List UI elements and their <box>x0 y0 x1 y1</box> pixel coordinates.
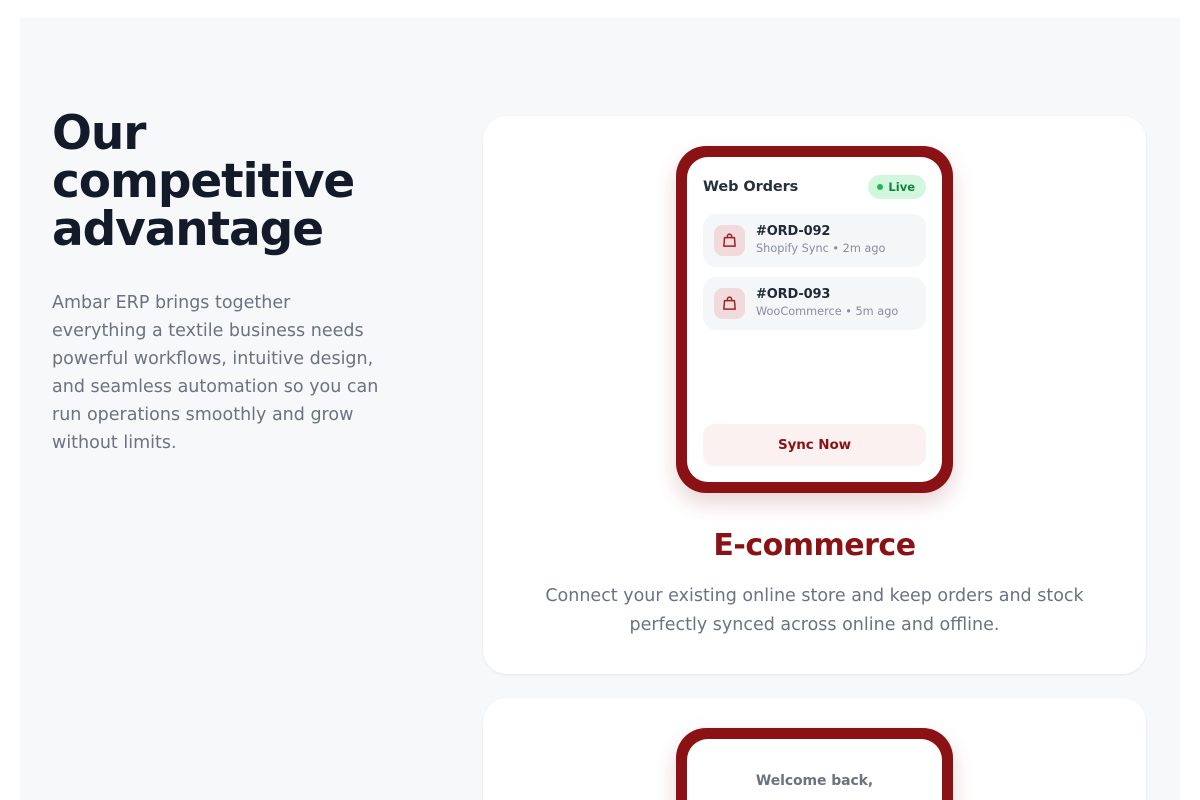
phone-mockup-screen: Welcome back, <box>687 739 942 800</box>
feature-card-ecommerce: Web Orders Live <box>483 116 1146 674</box>
welcome-greeting: Welcome back, <box>703 757 926 789</box>
mockup-title: Web Orders <box>703 179 798 195</box>
feature-card-list: Web Orders Live <box>483 116 1146 800</box>
live-dot-icon <box>877 184 883 190</box>
sync-now-button[interactable]: Sync Now <box>703 424 926 466</box>
page-title: Our competitive advantage <box>52 110 382 254</box>
mockup-header: Web Orders Live <box>703 175 926 199</box>
status-badge-label: Live <box>888 180 915 194</box>
order-meta: Shopify Sync • 2m ago <box>756 241 885 257</box>
shopping-bag-icon <box>714 288 745 319</box>
order-id: #ORD-093 <box>756 287 898 303</box>
page-section: Our competitive advantage Ambar ERP brin… <box>20 18 1180 800</box>
phone-mockup-frame: Web Orders Live <box>676 146 953 493</box>
intro-paragraph: Ambar ERP brings together everything a t… <box>52 289 390 457</box>
order-text-block: #ORD-093 WooCommerce • 5m ago <box>756 287 898 320</box>
phone-mockup-screen: Web Orders Live <box>687 157 942 482</box>
order-text-block: #ORD-092 Shopify Sync • 2m ago <box>756 224 885 257</box>
shopping-bag-icon <box>714 225 745 256</box>
feature-title: E-commerce <box>511 528 1118 563</box>
intro-column: Our competitive advantage Ambar ERP brin… <box>52 110 452 457</box>
phone-mockup-frame: Welcome back, <box>676 728 953 800</box>
order-meta: WooCommerce • 5m ago <box>756 304 898 320</box>
order-list-item[interactable]: #ORD-092 Shopify Sync • 2m ago <box>703 214 926 267</box>
feature-card-dashboard: Welcome back, <box>483 698 1146 800</box>
order-list-item[interactable]: #ORD-093 WooCommerce • 5m ago <box>703 277 926 330</box>
status-badge: Live <box>868 175 926 199</box>
feature-description: Connect your existing online store and k… <box>525 582 1105 640</box>
order-id: #ORD-092 <box>756 224 885 240</box>
mockup-spacer <box>703 340 926 424</box>
